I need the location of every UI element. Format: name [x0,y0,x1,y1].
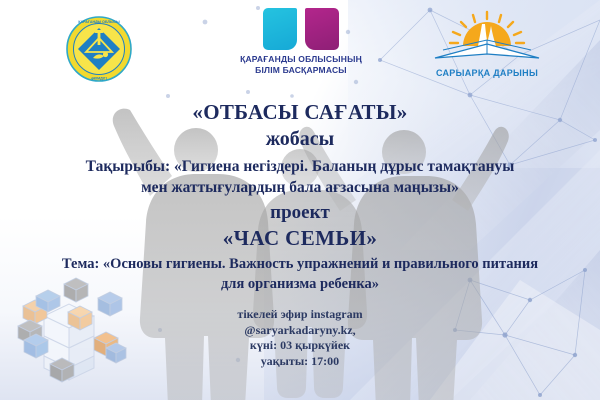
book-half-left [263,8,297,50]
book-mark-shape [263,8,339,50]
footer-date: күні: 03 қыркүйек [0,338,600,354]
svg-text:ҚАРАҒАНДЫ ОБЛЫСЫ: ҚАРАҒАНДЫ ОБЛЫСЫ [78,20,120,24]
book-half-right [305,8,339,50]
logos-row: ҚАРАҒАНДЫ ОБЛЫСЫ ӘКІМДІГІ ҚАРАҒАНДЫ ОБЛЫ… [0,0,600,96]
topic-ru: Тема: «Основы гигиены. Важность упражнен… [0,254,600,294]
sun-book-logo-icon: САРЫАРҚА ДАРЫНЫ [412,10,562,78]
footer-details: тікелей эфир instagram @saryarkadaryny.k… [0,307,600,369]
subtitle-kk: жобасы [0,126,600,152]
sun-book-shape [427,10,547,62]
poster-content: «ОТБАСЫ САҒАТЫ» жобасы Тақырыбы: «Гигиен… [0,100,600,369]
svg-text:ӘКІМДІГІ: ӘКІМДІГІ [91,76,106,80]
footer-instagram-account[interactable]: @saryarkadaryny.kz, [0,323,600,339]
topic-kk: Тақырыбы: «Гигиена негіздері. Баланың дұ… [0,156,600,198]
emblem-icon: ҚАРАҒАНДЫ ОБЛЫСЫ ӘКІМДІГІ [66,16,132,82]
saryarka-logo-caption: САРЫАРҚА ДАРЫНЫ [412,68,562,78]
footer-broadcast: тікелей эфир instagram [0,307,600,323]
page-title-ru: «ЧАС СЕМЬИ» [0,225,600,251]
page-title-kk: «ОТБАСЫ САҒАТЫ» [0,100,600,125]
book-logo-icon: ҚАРАҒАНДЫ ОБЛЫСЫНЫҢ БІЛІМ БАСҚАРМАСЫ [212,8,390,76]
footer-time: уақыты: 17:00 [0,354,600,370]
project-label-ru: проект [0,201,600,225]
bilim-logo-line1: ҚАРАҒАНДЫ ОБЛЫСЫНЫҢ [212,54,390,65]
bilim-logo-line2: БІЛІМ БАСҚАРМАСЫ [212,65,390,76]
poster-canvas: ҚАРАҒАНДЫ ОБЛЫСЫ ӘКІМДІГІ ҚАРАҒАНДЫ ОБЛЫ… [0,0,600,400]
